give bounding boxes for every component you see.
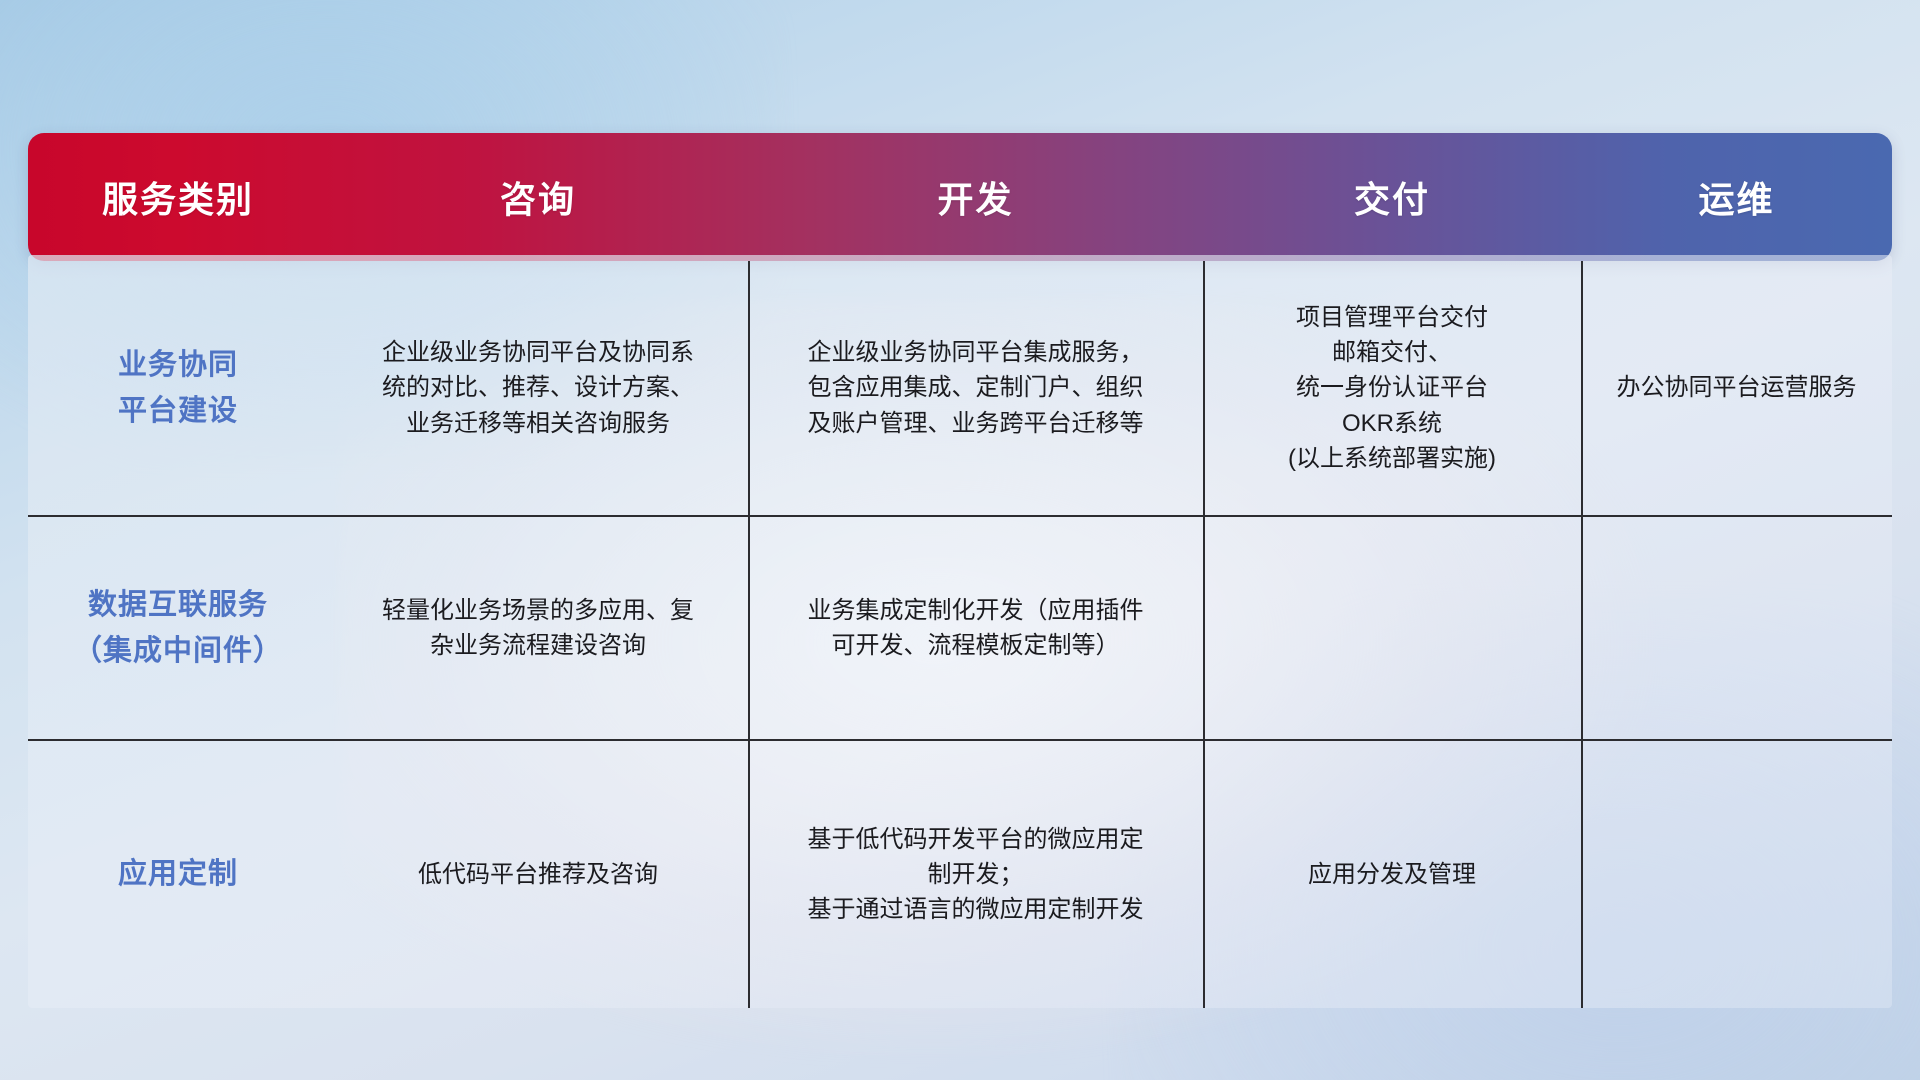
column-divider-development-delivery [1203, 741, 1205, 1008]
table-header-consulting: 咨询 [328, 133, 748, 261]
cell-row2-delivery: 应用分发及管理 [1203, 741, 1581, 1008]
cell-row2-consulting: 低代码平台推荐及咨询 [328, 741, 748, 1008]
cell-row1-delivery [1203, 517, 1581, 739]
cell-row0-operations: 办公协同平台运营服务 [1581, 261, 1892, 515]
row-label-app-customization: 应用定制 [28, 741, 328, 1008]
cell-row2-development: 基于低代码开发平台的微应用定 制开发； 基于通过语言的微应用定制开发 [748, 741, 1203, 1008]
column-divider-consulting-development [748, 517, 750, 739]
row-label-business-collaboration: 业务协同 平台建设 [28, 261, 328, 515]
table-header-development: 开发 [748, 133, 1203, 261]
column-divider-delivery-operations [1581, 517, 1583, 739]
column-divider-consulting-development [748, 741, 750, 1008]
table-row: 数据互联服务 （集成中间件） 轻量化业务场景的多应用、复 杂业务流程建设咨询 业… [28, 517, 1892, 739]
cell-row0-delivery: 项目管理平台交付 邮箱交付、 统一身份认证平台 OKR系统 (以上系统部署实施) [1203, 261, 1581, 515]
cell-row1-development: 业务集成定制化开发（应用插件 可开发、流程模板定制等） [748, 517, 1203, 739]
column-divider-development-delivery [1203, 261, 1205, 515]
cell-row1-operations [1581, 517, 1892, 739]
cell-row2-operations [1581, 741, 1892, 1008]
service-matrix-table: 服务类别 咨询 开发 交付 运维 业务协同 平台建设 企业级业务协同平台及协同系… [28, 133, 1892, 1008]
table-row: 应用定制 低代码平台推荐及咨询 基于低代码开发平台的微应用定 制开发； 基于通过… [28, 741, 1892, 1008]
table-header-delivery: 交付 [1203, 133, 1581, 261]
cell-row0-consulting: 企业级业务协同平台及协同系 统的对比、推荐、设计方案、 业务迁移等相关咨询服务 [328, 261, 748, 515]
cell-row0-development: 企业级业务协同平台集成服务， 包含应用集成、定制门户、组织 及账户管理、业务跨平… [748, 261, 1203, 515]
table-body: 业务协同 平台建设 企业级业务协同平台及协同系 统的对比、推荐、设计方案、 业务… [28, 255, 1892, 1008]
table-header-operations: 运维 [1581, 133, 1892, 261]
column-divider-development-delivery [1203, 517, 1205, 739]
column-divider-consulting-development [748, 261, 750, 515]
row-label-data-interconnect: 数据互联服务 （集成中间件） [28, 517, 328, 739]
slide-canvas: 服务类别 咨询 开发 交付 运维 业务协同 平台建设 企业级业务协同平台及协同系… [0, 0, 1920, 1080]
cell-row1-consulting: 轻量化业务场景的多应用、复 杂业务流程建设咨询 [328, 517, 748, 739]
column-divider-delivery-operations [1581, 261, 1583, 515]
column-divider-delivery-operations [1581, 741, 1583, 1008]
table-header-row: 服务类别 咨询 开发 交付 运维 [28, 133, 1892, 261]
table-header-service-category: 服务类别 [28, 133, 328, 261]
table-row: 业务协同 平台建设 企业级业务协同平台及协同系 统的对比、推荐、设计方案、 业务… [28, 261, 1892, 515]
